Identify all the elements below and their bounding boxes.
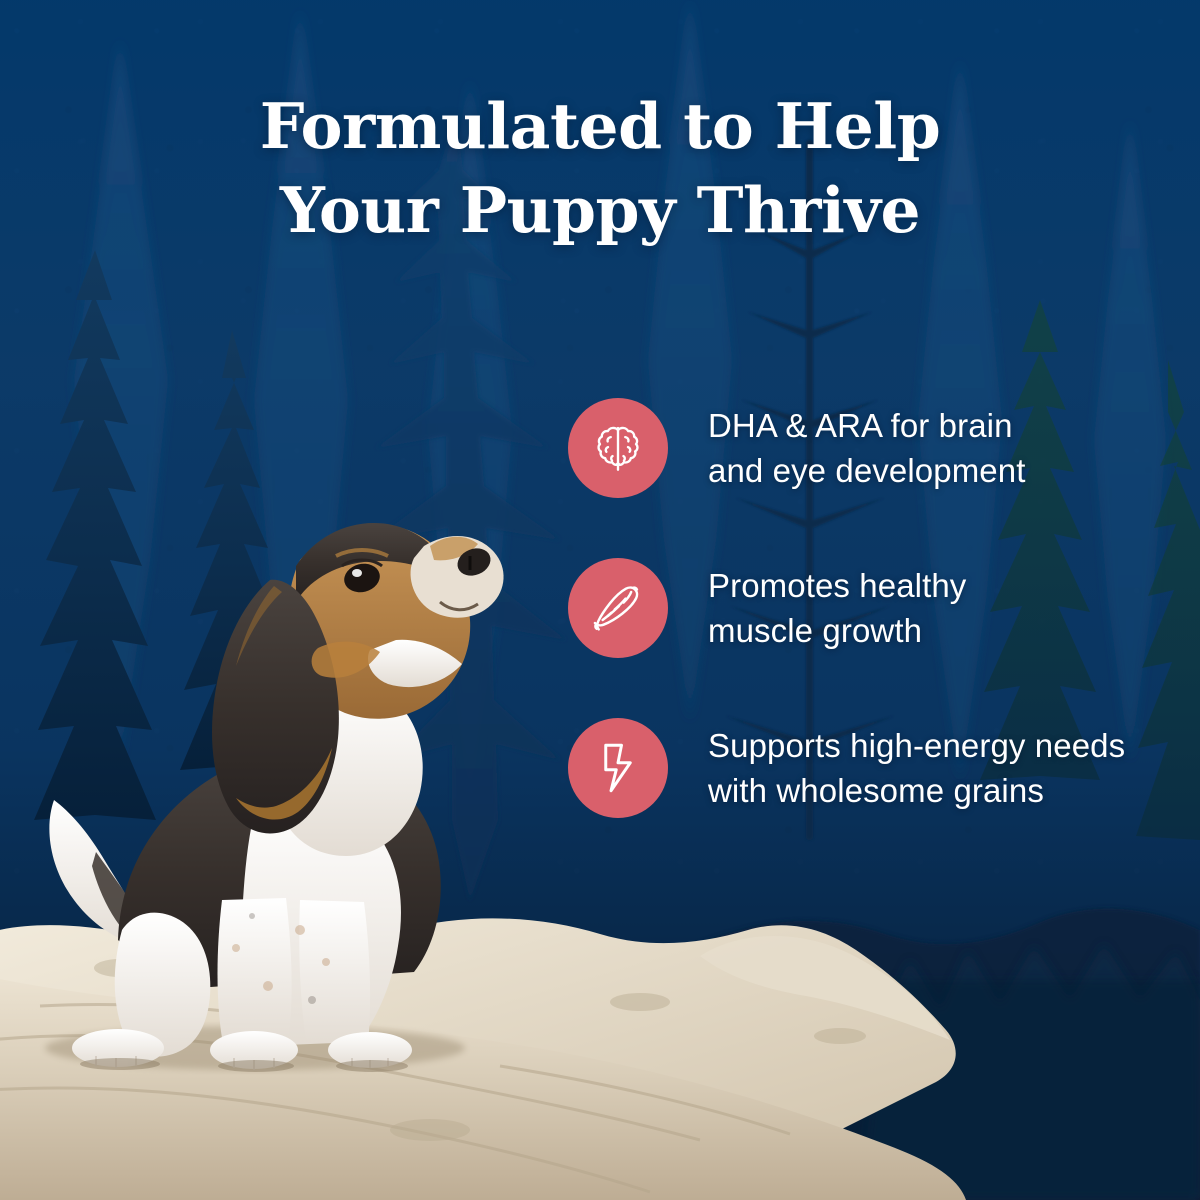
muscle-icon (588, 578, 648, 638)
headline-line-1: Formulated to Help (0, 84, 1200, 168)
headline-line-2: Your Puppy Thrive (0, 168, 1200, 252)
headline: Formulated to Help Your Puppy Thrive (0, 84, 1200, 252)
feature-icon-badge (568, 718, 668, 818)
feature-icon-badge (568, 398, 668, 498)
feature-item: DHA & ARA for brain and eye development (568, 398, 1168, 498)
feature-item: Supports high-energy needs with wholesom… (568, 718, 1168, 818)
promo-banner: Formulated to Help Your Puppy Thrive (0, 0, 1200, 1200)
brain-icon (589, 419, 647, 477)
feature-list: DHA & ARA for brain and eye development (568, 398, 1168, 818)
feature-text: DHA & ARA for brain and eye development (708, 403, 1025, 493)
feature-item: Promotes healthy muscle growth (568, 558, 1168, 658)
feature-text: Promotes healthy muscle growth (708, 563, 966, 653)
feature-icon-badge (568, 558, 668, 658)
feature-text: Supports high-energy needs with wholesom… (708, 723, 1125, 813)
lightning-bolt-icon (590, 740, 646, 796)
